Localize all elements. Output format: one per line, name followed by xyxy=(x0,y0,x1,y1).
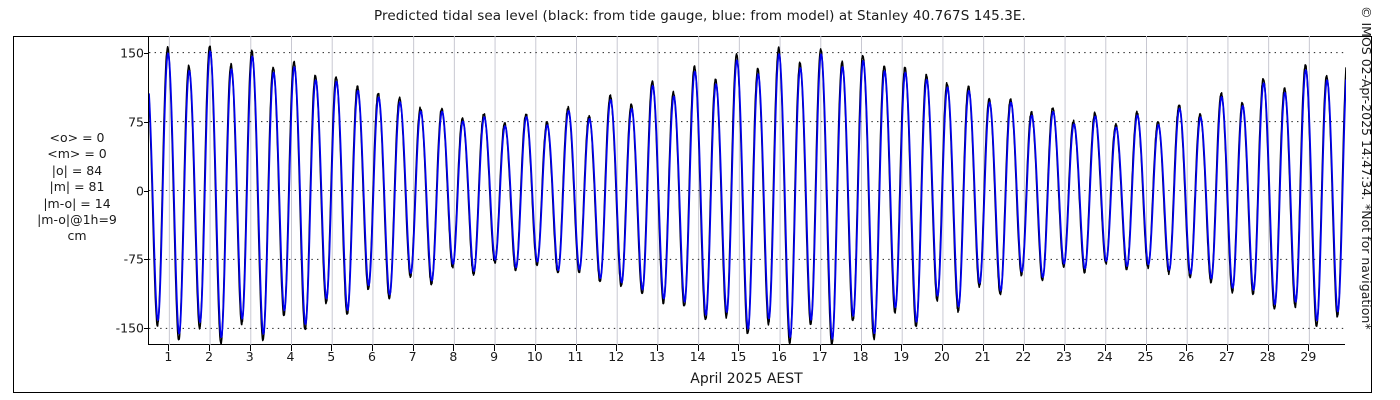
x-axis-tick-label: 14 xyxy=(690,349,706,364)
x-axis-tick-label: 19 xyxy=(893,349,909,364)
plot-area xyxy=(148,36,1345,345)
x-axis-title: April 2025 AEST xyxy=(148,371,1345,387)
x-axis-tick-label: 3 xyxy=(246,349,254,364)
tide-series-canvas xyxy=(149,36,1346,345)
x-axis-tick-label: 4 xyxy=(287,349,295,364)
page-title: Predicted tidal sea level (black: from t… xyxy=(0,8,1400,24)
x-axis-tick-label: 10 xyxy=(527,349,543,364)
x-axis-tick-label: 27 xyxy=(1219,349,1235,364)
series-model xyxy=(149,51,1346,338)
x-axis-tick-label: 7 xyxy=(409,349,417,364)
credit-text: © IMOS 02-Apr-2025 14:47:34. *Not for na… xyxy=(1359,6,1374,386)
x-axis-tick-label: 21 xyxy=(975,349,991,364)
x-axis-tick-label: 17 xyxy=(812,349,828,364)
x-axis-tick-label: 1 xyxy=(164,349,172,364)
y-axis-tick-label: 75 xyxy=(128,114,144,129)
x-axis-tick-label: 25 xyxy=(1138,349,1154,364)
x-axis-tick-label: 15 xyxy=(730,349,746,364)
x-axis-tick-labels: 1234567891011121314151617181920212223242… xyxy=(148,349,1345,369)
series-tide-gauge xyxy=(149,46,1346,345)
x-axis-tick-label: 8 xyxy=(449,349,457,364)
y-axis-tick-label: 0 xyxy=(136,183,144,198)
x-axis-tick-label: 23 xyxy=(1056,349,1072,364)
x-axis-tick-label: 16 xyxy=(771,349,787,364)
x-axis-tick-label: 20 xyxy=(934,349,950,364)
y-axis-tick-label: 150 xyxy=(120,45,144,60)
x-axis-tick-label: 9 xyxy=(490,349,498,364)
x-axis-tick-label: 5 xyxy=(327,349,335,364)
x-axis-tick-label: 2 xyxy=(205,349,213,364)
x-axis-tick-label: 29 xyxy=(1300,349,1316,364)
x-axis-tick-label: 11 xyxy=(568,349,584,364)
x-axis-tick-label: 24 xyxy=(1097,349,1113,364)
x-axis-tick-label: 13 xyxy=(649,349,665,364)
x-axis-tick-label: 12 xyxy=(608,349,624,364)
x-axis-tick-label: 26 xyxy=(1178,349,1194,364)
x-axis-tick-label: 18 xyxy=(853,349,869,364)
y-axis-tick-labels: 150750-75-150 xyxy=(96,36,144,345)
x-axis-tick-label: 22 xyxy=(1015,349,1031,364)
x-axis-tick-label: 6 xyxy=(368,349,376,364)
y-axis-tick-label: -75 xyxy=(124,252,144,267)
x-axis-tick-label: 28 xyxy=(1260,349,1276,364)
tidal-chart-page: Predicted tidal sea level (black: from t… xyxy=(0,0,1400,400)
y-axis-tick-label: -150 xyxy=(116,321,144,336)
